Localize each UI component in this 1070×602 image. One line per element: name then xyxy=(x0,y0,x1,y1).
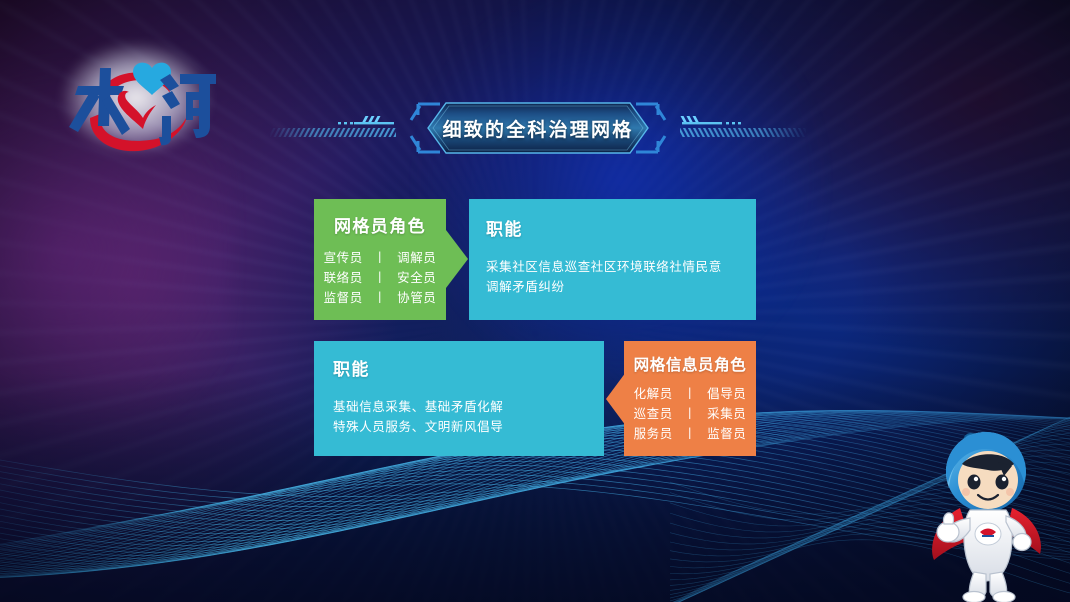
role-item: 巡查员 xyxy=(624,404,682,424)
role-separator: 丨 xyxy=(372,288,387,308)
role-separator: 丨 xyxy=(372,248,387,268)
grid-info-role-list: 化解员 丨 倡导员 巡查员 丨 采集员 服务员 丨 监督员 xyxy=(624,384,756,444)
role-separator: 丨 xyxy=(682,384,697,404)
role-item: 倡导员 xyxy=(698,384,756,404)
title-banner: 细致的全科治理网格 xyxy=(268,100,808,156)
duty-line: 调解矛盾纠纷 xyxy=(486,277,756,297)
grid-member-role-list: 宣传员 丨 调解员 联络员 丨 安全员 监督员 丨 协管员 xyxy=(314,248,446,308)
role-item: 联络员 xyxy=(314,268,372,288)
logo-artwork xyxy=(56,34,216,162)
role-separator: 丨 xyxy=(682,424,697,444)
duty-line: 基础信息采集、基础矛盾化解 xyxy=(333,397,604,417)
role-separator: 丨 xyxy=(372,268,387,288)
duty-line: 特殊人员服务、文明新风倡导 xyxy=(333,417,604,437)
role-row: 服务员 丨 监督员 xyxy=(624,424,756,444)
grid-info-duty-title: 职能 xyxy=(333,355,604,380)
grid-member-duty-list: 采集社区信息巡查社区环境联络社情民意 调解矛盾纠纷 xyxy=(486,257,756,297)
green-arrow-icon xyxy=(446,230,468,288)
role-item: 化解员 xyxy=(624,384,682,404)
grid-member-role-box[interactable]: 网格员角色 宣传员 丨 调解员 联络员 丨 安全员 监督员 丨 协管员 xyxy=(314,199,446,320)
grid-info-duty-box[interactable]: 职能 基础信息采集、基础矛盾化解 特殊人员服务、文明新风倡导 xyxy=(314,341,604,456)
role-item: 服务员 xyxy=(624,424,682,444)
role-item: 监督员 xyxy=(698,424,756,444)
duty-line: 采集社区信息巡查社区环境联络社情民意 xyxy=(486,257,756,277)
grid-info-duty-list: 基础信息采集、基础矛盾化解 特殊人员服务、文明新风倡导 xyxy=(333,397,604,437)
superhero-mascot xyxy=(920,422,1068,602)
role-row: 联络员 丨 安全员 xyxy=(314,268,446,288)
grid-info-role-title: 网格信息员角色 xyxy=(624,353,756,375)
role-row: 化解员 丨 倡导员 xyxy=(624,384,756,404)
grid-member-role-title: 网格员角色 xyxy=(314,212,446,237)
role-item: 监督员 xyxy=(314,288,372,308)
mascot-artwork xyxy=(920,422,1068,602)
role-row: 宣传员 丨 调解员 xyxy=(314,248,446,268)
role-item: 安全员 xyxy=(388,268,446,288)
role-separator: 丨 xyxy=(682,404,697,424)
role-item: 调解员 xyxy=(388,248,446,268)
grid-info-role-box[interactable]: 网格信息员角色 化解员 丨 倡导员 巡查员 丨 采集员 服务员 丨 监督员 xyxy=(624,341,756,456)
role-row: 巡查员 丨 采集员 xyxy=(624,404,756,424)
role-row: 监督员 丨 协管员 xyxy=(314,288,446,308)
page-title: 细致的全科治理网格 xyxy=(268,100,808,156)
role-item: 宣传员 xyxy=(314,248,372,268)
slide-canvas: 细致的全科治理网格 网格员角色 宣传员 丨 调解员 联络员 丨 安全员 监督员 … xyxy=(0,0,1070,602)
da-diao-logo xyxy=(56,34,216,162)
grid-member-duty-box[interactable]: 职能 采集社区信息巡查社区环境联络社情民意 调解矛盾纠纷 xyxy=(469,199,756,320)
orange-arrow-icon xyxy=(606,372,626,426)
role-item: 协管员 xyxy=(388,288,446,308)
grid-member-duty-title: 职能 xyxy=(486,215,756,240)
role-item: 采集员 xyxy=(698,404,756,424)
